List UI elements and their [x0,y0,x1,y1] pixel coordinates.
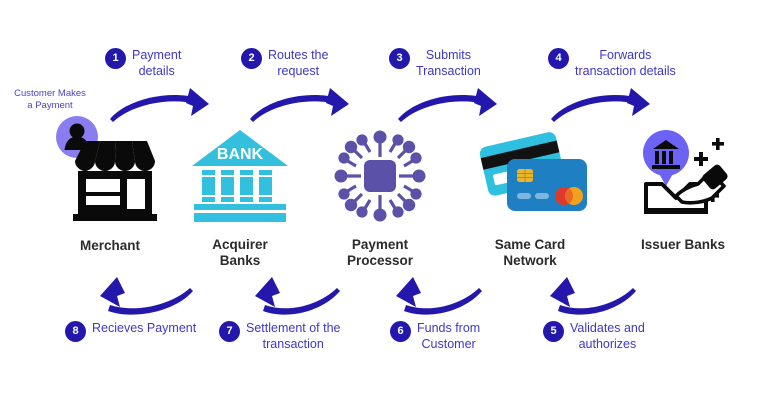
step-badge-6: 6 [390,321,411,342]
step-label-2: Routes the request [268,47,328,79]
step-label-3: Submits Transaction [416,47,481,79]
step-label-8: Recieves Payment [92,320,196,336]
entity-merchant: Merchant [42,115,178,254]
entity-card-network: Same Card Network [460,128,600,269]
step-label-1: Payment details [132,47,181,79]
chip-icon [330,126,430,231]
step-return-7: 7 Settlement of the transaction [219,320,341,352]
bank-icon: BANK [190,126,290,231]
payment-flow-diagram: 1 Payment details 2 Routes the request 3… [0,0,768,402]
step-forward-4: 4 Forwards transaction details [548,47,676,79]
step-badge-7: 7 [219,321,240,342]
entity-label-card-network: Same Card Network [495,237,566,269]
arrow-forward-2 [250,88,349,122]
arrow-forward-4 [551,88,650,122]
step-label-5: Validates and authorizes [570,320,645,352]
entity-payment-processor: Payment Processor [315,126,445,269]
issuer-bank-icon [624,128,742,231]
entity-label-issuer-banks: Issuer Banks [641,237,725,253]
customer-caption: Customer Makes a Payment [2,88,98,112]
entity-acquirer-banks: BANK Acquirer Banks [175,126,305,269]
arrow-return-7 [255,277,340,315]
step-return-6: 6 Funds from Customer [390,320,480,352]
entity-label-merchant: Merchant [80,238,140,254]
step-label-7: Settlement of the transaction [246,320,341,352]
step-label-6: Funds from Customer [417,320,480,352]
step-badge-3: 3 [389,48,410,69]
step-forward-1: 1 Payment details [105,47,181,79]
storefront-icon [55,115,165,232]
entity-issuer-banks: Issuer Banks [608,128,758,253]
step-return-5: 5 Validates and authorizes [543,320,645,352]
credit-cards-icon [471,128,589,231]
step-badge-5: 5 [543,321,564,342]
step-return-8: 8 Recieves Payment [65,320,196,342]
step-badge-8: 8 [65,321,86,342]
arrow-forward-3 [398,88,497,122]
step-badge-1: 1 [105,48,126,69]
step-forward-2: 2 Routes the request [241,47,328,79]
arrow-return-5 [550,277,636,315]
entity-label-payment-processor: Payment Processor [347,237,413,269]
step-forward-3: 3 Submits Transaction [389,47,481,79]
bank-icon-text: BANK [217,146,264,163]
arrow-return-8 [100,277,193,315]
step-label-4: Forwards transaction details [575,47,676,79]
step-badge-4: 4 [548,48,569,69]
arrow-return-6 [396,277,482,315]
step-badge-2: 2 [241,48,262,69]
entity-label-acquirer-banks: Acquirer Banks [212,237,268,269]
bank-pin-icon [643,130,689,186]
